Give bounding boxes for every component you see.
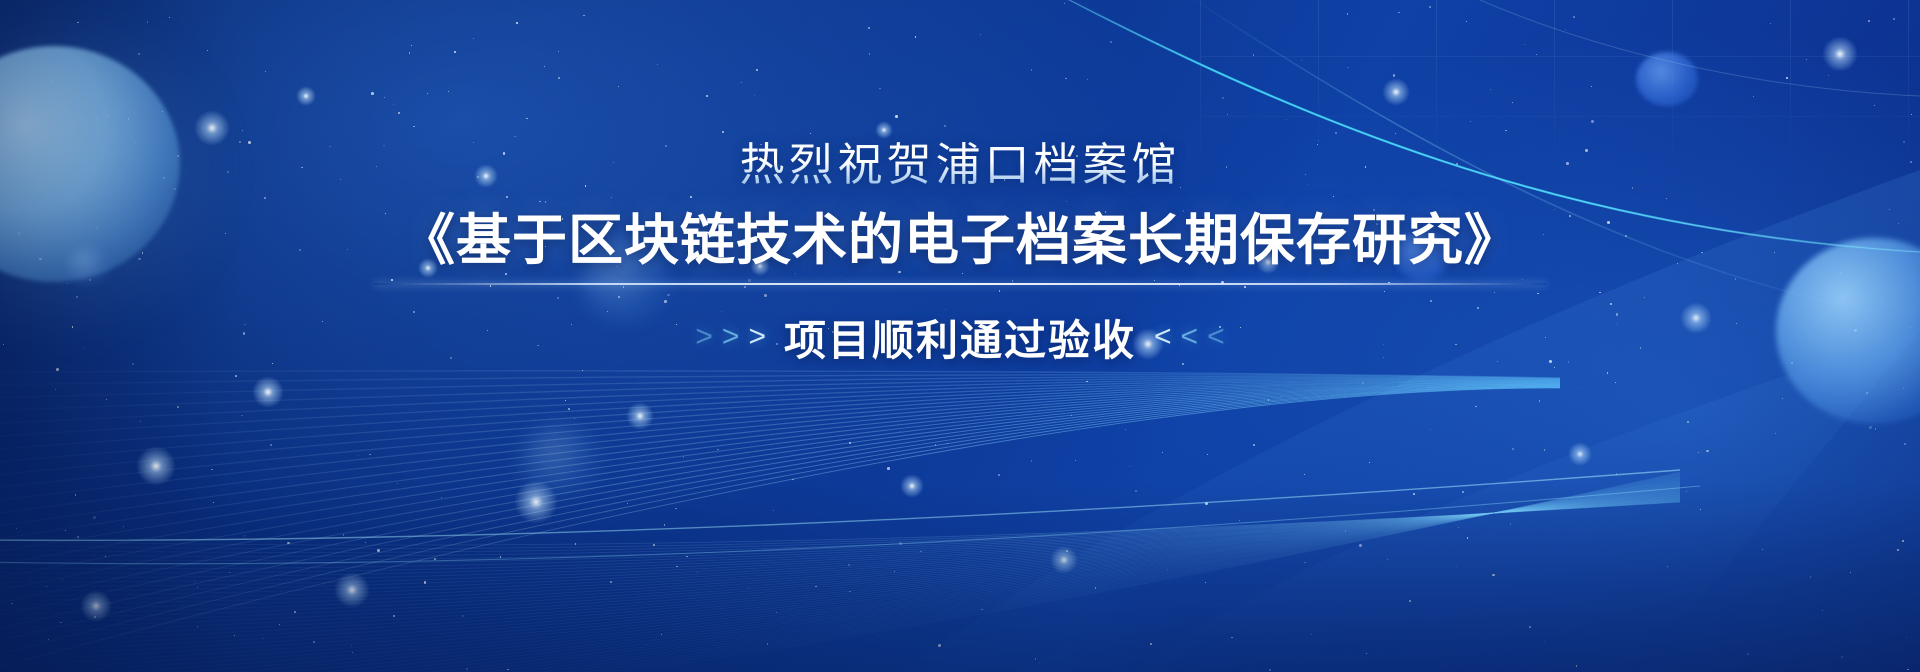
status-line: 项目顺利通过验收: [784, 307, 1136, 368]
project-title: 《基于区块链技术的电子档案长期保存研究》: [400, 207, 1520, 273]
chevrons-left-icon: > > >: [695, 320, 766, 354]
chevrons-right-icon: < < <: [1154, 320, 1225, 354]
chevron-left-icon-3: <: [1207, 320, 1225, 354]
chevron-left-icon-2: <: [1181, 320, 1199, 354]
title-underline: [374, 283, 1546, 285]
bottom-vignette: [0, 482, 1920, 672]
status-row: > > > 项目顺利通过验收 < < <: [0, 307, 1920, 368]
orb-right-small-icon: [1636, 52, 1698, 106]
chevron-right-icon-3: >: [748, 320, 766, 354]
banner-text-block: 热烈祝贺浦口档案馆 《基于区块链技术的电子档案长期保存研究》 > > > 项目顺…: [0, 138, 1920, 368]
project-title-wrap: 《基于区块链技术的电子档案长期保存研究》: [400, 207, 1520, 273]
chevron-right-icon-1: >: [695, 320, 713, 354]
banner-root: 热烈祝贺浦口档案馆 《基于区块链技术的电子档案长期保存研究》 > > > 项目顺…: [0, 0, 1920, 672]
chevron-left-icon-1: <: [1154, 320, 1172, 354]
orb-center-lower-icon: [520, 425, 600, 499]
chevron-right-icon-2: >: [722, 320, 740, 354]
headline: 热烈祝贺浦口档案馆: [0, 138, 1920, 193]
